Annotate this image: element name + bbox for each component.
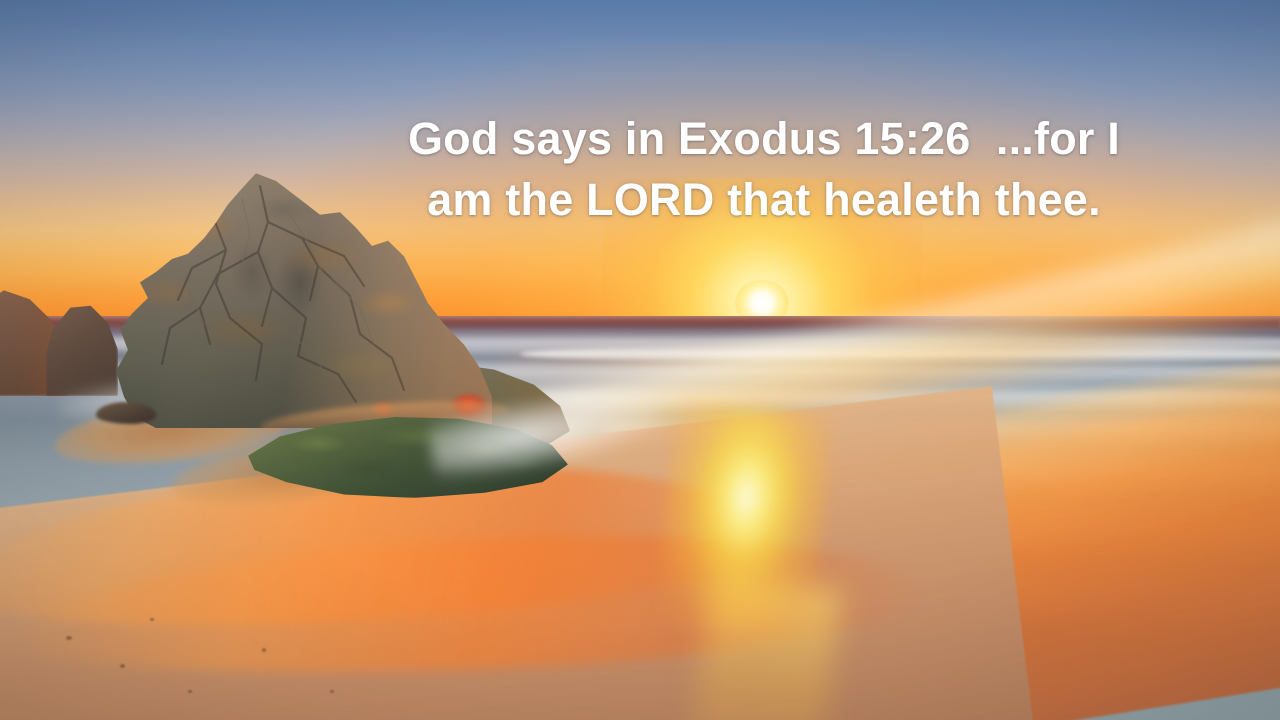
sand-speck (262, 648, 266, 652)
sand-speck (330, 690, 334, 693)
slide-canvas: God says in Exodus 15:26 ...for I am the… (0, 0, 1280, 720)
sand-speck (150, 618, 154, 621)
sand-speck (66, 636, 72, 640)
small-beach-rock (96, 402, 156, 424)
sand-speck (188, 690, 192, 693)
sand-sun-reflection (653, 400, 836, 640)
sand-speck (120, 664, 125, 668)
